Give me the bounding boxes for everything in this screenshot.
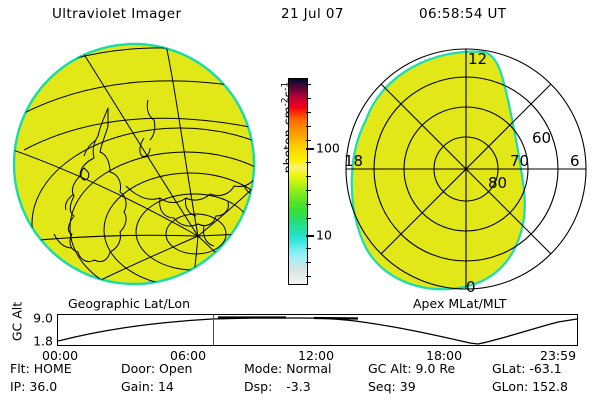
status-seq-value: 39 bbox=[400, 379, 416, 394]
status-mode: Mode: Normal bbox=[244, 361, 332, 376]
status-glat-key: GLat: bbox=[492, 361, 525, 376]
status-gc-alt: GC Alt: 9.0 Re bbox=[368, 361, 455, 376]
status-door: Door: Open bbox=[121, 361, 192, 376]
geographic-image-panel[interactable] bbox=[8, 38, 266, 296]
gc-alt-trace-svg bbox=[58, 315, 577, 345]
mlat-label-70: 70 bbox=[510, 152, 529, 170]
gc-alt-axis-label: GC Alt bbox=[10, 297, 25, 347]
status-flt-key: Flt: bbox=[10, 361, 30, 376]
status-dsp: Dsp: -3.3 bbox=[244, 379, 311, 394]
status-glat: GLat: -63.1 bbox=[492, 361, 562, 376]
orbit-timeline[interactable]: Geographic Lat/Lon Apex MLat/MLT GC Alt … bbox=[0, 296, 600, 358]
status-glat-value: -63.1 bbox=[529, 361, 561, 376]
observation-date: 21 Jul 07 bbox=[281, 6, 344, 22]
mlt-plot-svg: 12 6 0 18 60 70 80 bbox=[338, 38, 594, 296]
gc-alt-tick-min: 1.8 bbox=[33, 334, 53, 349]
geographic-plot-svg bbox=[8, 38, 266, 296]
gc-alt-trace bbox=[58, 318, 577, 344]
status-gc-alt-key: GC Alt: bbox=[368, 361, 412, 376]
status-gain: Gain: 14 bbox=[121, 379, 174, 394]
mlat-label-60: 60 bbox=[532, 129, 551, 147]
colorbar-ticks bbox=[306, 78, 314, 283]
status-flt: Flt: HOME bbox=[10, 361, 72, 376]
status-glon-value: 152.8 bbox=[532, 379, 568, 394]
status-gain-value: 14 bbox=[158, 379, 174, 394]
status-bar: Flt: HOME Door: Open Mode: Normal GC Alt… bbox=[0, 361, 600, 399]
status-glon-key: GLon: bbox=[492, 379, 528, 394]
mlt-label-12: 12 bbox=[468, 50, 487, 68]
status-glon: GLon: 152.8 bbox=[492, 379, 568, 394]
colorbar-gradient[interactable] bbox=[288, 78, 308, 285]
status-row: Flt: HOME Door: Open Mode: Normal GC Alt… bbox=[0, 361, 600, 379]
instrument-title: Ultraviolet Imager bbox=[52, 6, 181, 22]
uv-imager-window: Ultraviolet Imager 21 Jul 07 06:58:54 UT bbox=[0, 0, 600, 400]
gc-alt-plot-frame[interactable] bbox=[57, 314, 578, 346]
status-mode-key: Mode: bbox=[244, 361, 282, 376]
status-ip: IP: 36.0 bbox=[10, 379, 57, 394]
status-seq: Seq: 39 bbox=[368, 379, 416, 394]
gc-alt-tick-max: 9.0 bbox=[33, 311, 53, 326]
colorbar-tick-label-10: 10 bbox=[316, 228, 332, 243]
status-dsp-value: -3.3 bbox=[286, 379, 310, 394]
mlt-spokes bbox=[346, 49, 586, 289]
current-time-marker[interactable] bbox=[213, 315, 214, 346]
colorbar-group: photon cm-2s-1 100 10 bbox=[262, 38, 338, 296]
mlt-plot-title: Apex MLat/MLT bbox=[413, 296, 507, 311]
status-dsp-key: Dsp: bbox=[244, 379, 272, 394]
status-flt-value: HOME bbox=[34, 361, 72, 376]
status-door-key: Door: bbox=[121, 361, 155, 376]
status-ip-key: IP: bbox=[10, 379, 25, 394]
aurora-disk-inner-shade bbox=[16, 46, 252, 282]
observation-time: 06:58:54 UT bbox=[419, 6, 506, 22]
colorbar-tick-label-100: 100 bbox=[316, 141, 340, 156]
mlt-label-0: 0 bbox=[466, 278, 476, 296]
mlt-dial-panel[interactable]: 12 6 0 18 60 70 80 bbox=[338, 38, 594, 296]
status-gain-key: Gain: bbox=[121, 379, 154, 394]
status-row: IP: 36.0 Gain: 14 Dsp: -3.3 Seq: 39 GLon… bbox=[0, 379, 600, 397]
status-gc-alt-value: 9.0 Re bbox=[416, 361, 456, 376]
status-mode-value: Normal bbox=[286, 361, 331, 376]
status-ip-value: 36.0 bbox=[29, 379, 57, 394]
status-door-value: Open bbox=[159, 361, 192, 376]
header: Ultraviolet Imager 21 Jul 07 06:58:54 UT bbox=[0, 6, 600, 28]
mlt-label-18: 18 bbox=[344, 152, 363, 170]
geographic-plot-title: Geographic Lat/Lon bbox=[68, 296, 190, 311]
mlat-label-80: 80 bbox=[488, 174, 507, 192]
status-seq-key: Seq: bbox=[368, 379, 396, 394]
gc-alt-trace-flat-top-2 bbox=[314, 318, 358, 319]
mlt-label-6: 6 bbox=[570, 152, 580, 170]
